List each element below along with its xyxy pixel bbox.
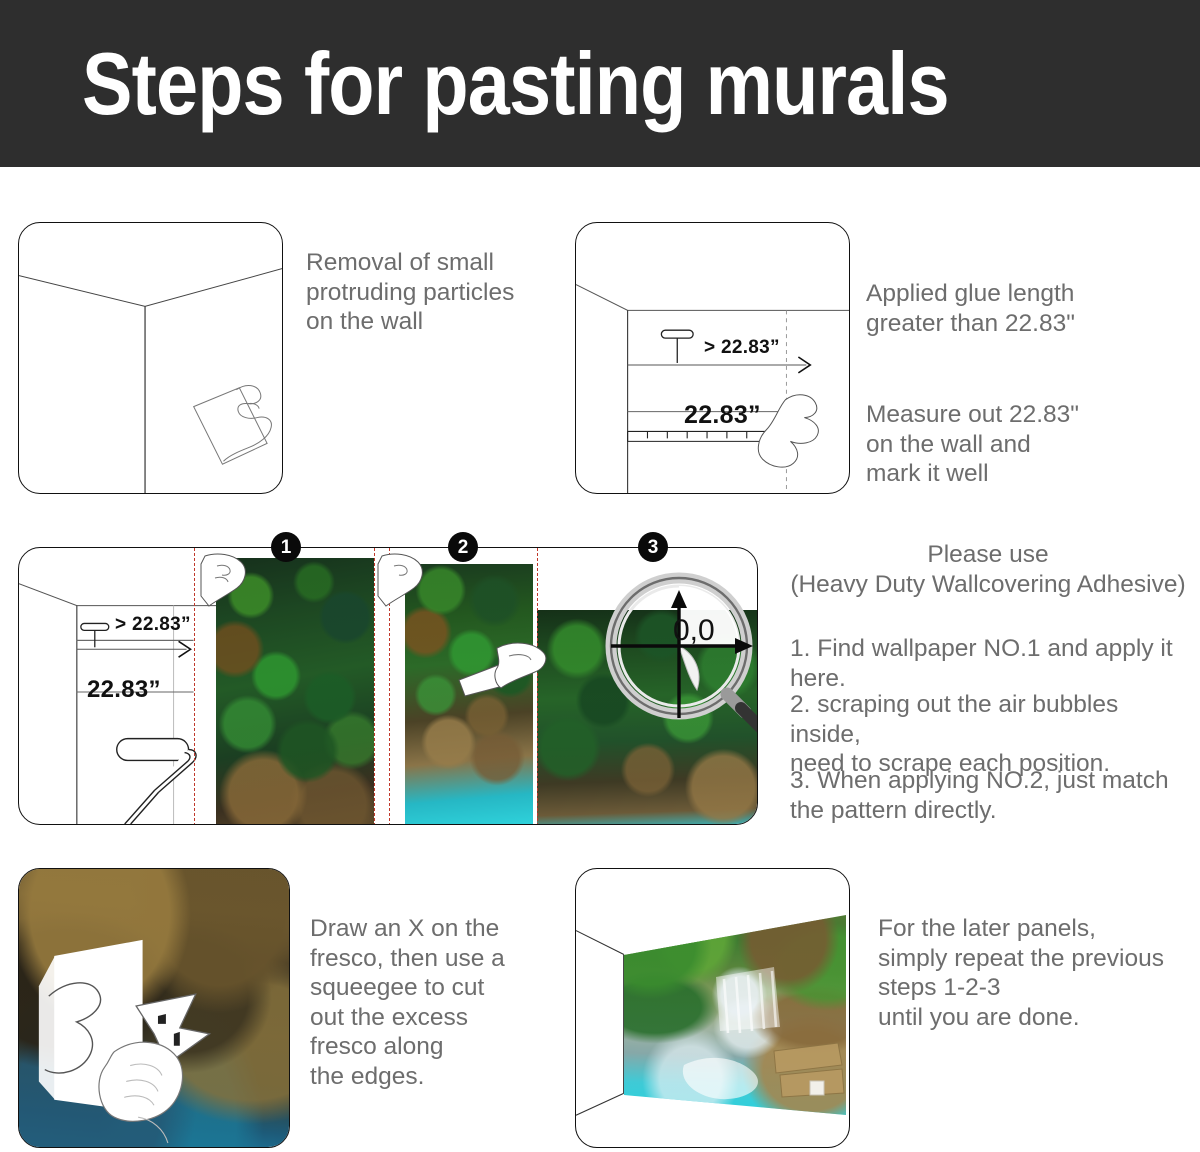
instruction-3: 3. When applying NO.2, just match the pa… [790,766,1190,825]
hand-peel-icon-2 [376,552,426,610]
magnifier-icon [599,568,758,758]
caption-prep-wall: Removal of small protruding particles on… [306,248,576,337]
seam-line-2 [374,548,375,825]
hand-squeegee-cut-icon [19,869,289,1147]
label-glue-length: > 22.83” [704,337,780,359]
label-origin: 0,0 [673,614,715,648]
panel-trim-edges [18,868,290,1148]
panel-repeat [575,868,850,1148]
badge-step-3: 3 [638,532,668,562]
hand-peel-icon-1 [199,552,249,610]
caption-measure-wall: Measure out 22.83" on the wall and mark … [866,400,1166,489]
panel-hang-panels: 0,0 > 22.83” 22.83” [18,547,758,825]
caption-repeat: For the later panels, simply repeat the … [878,914,1198,1032]
caption-trim-edges: Draw an X on the fresco, then use a sque… [310,914,570,1091]
hand-squeegee-icon [457,634,549,702]
caption-applied-glue: Applied glue length greater than 22.83" [866,279,1166,338]
instruction-sheet: Steps for pasting murals Removal of smal… [0,0,1200,1152]
label-measure-length: 22.83” [684,401,761,430]
room-corner-icon [19,223,282,493]
instruction-1: 1. Find wallpaper NO.1 and apply it here… [790,634,1190,693]
adhesive-heading: Please use (Heavy Duty Wallcovering Adhe… [790,540,1186,600]
panel-apply-glue: > 22.83” 22.83” [575,222,850,494]
header-banner: Steps for pasting murals [0,0,1200,167]
badge-step-1: 1 [271,532,301,562]
panel-prep-wall [18,222,283,494]
label-glue-length-mid: > 22.83” [115,614,191,636]
badge-step-2: 2 [448,532,478,562]
seam-line-1 [194,548,195,825]
page-title: Steps for pasting murals [82,30,949,138]
label-measure-length-mid: 22.83” [87,676,161,704]
waterfall-detail-icon [624,915,846,1115]
